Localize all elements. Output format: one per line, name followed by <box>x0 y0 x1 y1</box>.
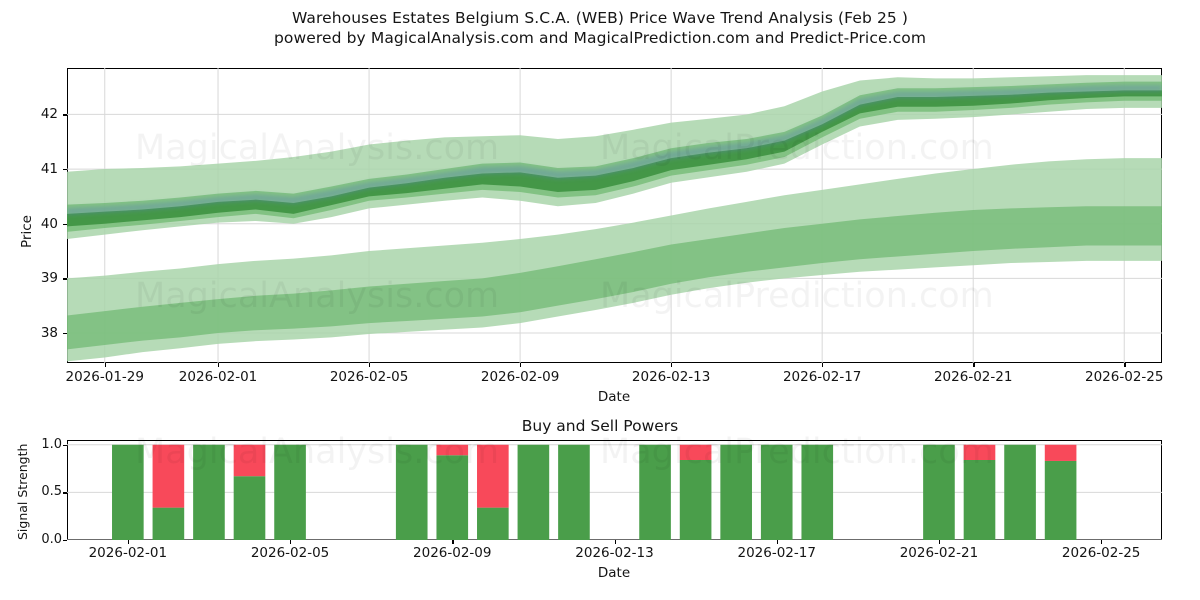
price-xtick-mark <box>520 363 521 367</box>
price-xaxis-label: Date <box>598 389 630 405</box>
price-wave-chart: Price <box>67 68 1162 363</box>
buy-power-bar <box>720 445 752 540</box>
price-xtick-mark <box>218 363 219 367</box>
price-xtick-label: 2026-02-17 <box>783 369 861 385</box>
buy-power-bar <box>639 445 671 540</box>
sell-power-bar <box>436 445 468 455</box>
buy-power-bar <box>274 445 306 540</box>
sell-power-bar <box>680 445 712 460</box>
buy-power-bar <box>436 455 468 540</box>
price-ytick-label: 40 <box>20 216 58 232</box>
signal-ytick-label: 1.0 <box>22 437 62 452</box>
price-ytick-label: 38 <box>20 325 58 341</box>
chart-title-line-2: powered by MagicalAnalysis.com and Magic… <box>0 28 1200 48</box>
signal-xtick-label: 2026-02-17 <box>737 545 815 561</box>
price-ytick-label: 39 <box>20 270 58 286</box>
buy-power-bar <box>1045 461 1077 540</box>
buy-power-bar <box>477 508 509 540</box>
buy-power-bar <box>680 460 712 540</box>
buy-power-bar <box>518 445 550 540</box>
buy-power-bar <box>964 460 996 540</box>
price-xtick-label: 2026-02-01 <box>179 369 257 385</box>
signal-xtick-mark <box>1101 540 1102 544</box>
buy-power-bar <box>761 445 793 540</box>
chart-page: Warehouses Estates Belgium S.C.A. (WEB) … <box>0 0 1200 600</box>
price-xtick-label: 2026-02-13 <box>632 369 710 385</box>
price-ytick-mark <box>63 114 67 115</box>
sell-power-bar <box>153 445 185 508</box>
buy-power-bar <box>193 445 225 540</box>
buy-power-bar <box>801 445 833 540</box>
price-ytick-label: 42 <box>20 106 58 122</box>
signal-chart-title: Buy and Sell Powers <box>0 417 1200 435</box>
signal-chart-plot <box>67 440 1162 540</box>
buy-power-bar <box>558 445 590 540</box>
price-xtick-label: 2026-02-25 <box>1085 369 1163 385</box>
price-xtick-label: 2026-01-29 <box>66 369 144 385</box>
price-xtick-mark <box>671 363 672 367</box>
signal-xtick-label: 2026-02-01 <box>89 545 167 561</box>
signal-xtick-mark <box>452 540 453 544</box>
price-ytick-mark <box>63 224 67 225</box>
signal-xtick-label: 2026-02-13 <box>575 545 653 561</box>
price-ytick-mark <box>63 333 67 334</box>
signal-xtick-label: 2026-02-09 <box>413 545 491 561</box>
buy-power-bar <box>923 445 955 540</box>
sell-power-bar <box>1045 445 1077 461</box>
sell-power-bar <box>477 445 509 508</box>
price-xtick-mark <box>973 363 974 367</box>
buy-power-bar <box>1004 445 1036 540</box>
buy-power-bar <box>112 445 144 540</box>
signal-ytick-mark <box>63 492 67 493</box>
price-ytick-mark <box>63 169 67 170</box>
signal-xtick-mark <box>128 540 129 544</box>
signal-xaxis-label: Date <box>598 565 630 581</box>
buy-sell-powers-chart: Signal Strength <box>67 440 1162 540</box>
sell-power-bar <box>234 445 266 476</box>
chart-title-block: Warehouses Estates Belgium S.C.A. (WEB) … <box>0 8 1200 48</box>
price-ytick-mark <box>63 278 67 279</box>
signal-ytick-label: 0.0 <box>22 532 62 547</box>
signal-ytick-mark <box>63 445 67 446</box>
signal-xtick-mark <box>939 540 940 544</box>
price-xtick-mark <box>105 363 106 367</box>
signal-ytick-label: 0.5 <box>22 484 62 499</box>
signal-xtick-label: 2026-02-25 <box>1062 545 1140 561</box>
buy-power-bar <box>396 445 428 540</box>
price-xtick-mark <box>1124 363 1125 367</box>
sell-power-bar <box>964 445 996 460</box>
buy-power-bar <box>234 476 266 540</box>
price-xtick-label: 2026-02-09 <box>481 369 559 385</box>
signal-xtick-label: 2026-02-21 <box>900 545 978 561</box>
signal-xtick-mark <box>615 540 616 544</box>
price-chart-plot <box>67 68 1162 363</box>
price-ytick-label: 41 <box>20 161 58 177</box>
buy-power-bar <box>153 508 185 540</box>
chart-title-line-1: Warehouses Estates Belgium S.C.A. (WEB) … <box>0 8 1200 28</box>
price-xtick-label: 2026-02-05 <box>330 369 408 385</box>
signal-ytick-mark <box>63 540 67 541</box>
price-xtick-label: 2026-02-21 <box>934 369 1012 385</box>
price-xtick-mark <box>369 363 370 367</box>
price-xtick-mark <box>822 363 823 367</box>
signal-xtick-mark <box>777 540 778 544</box>
signal-xtick-mark <box>290 540 291 544</box>
signal-xtick-label: 2026-02-05 <box>251 545 329 561</box>
